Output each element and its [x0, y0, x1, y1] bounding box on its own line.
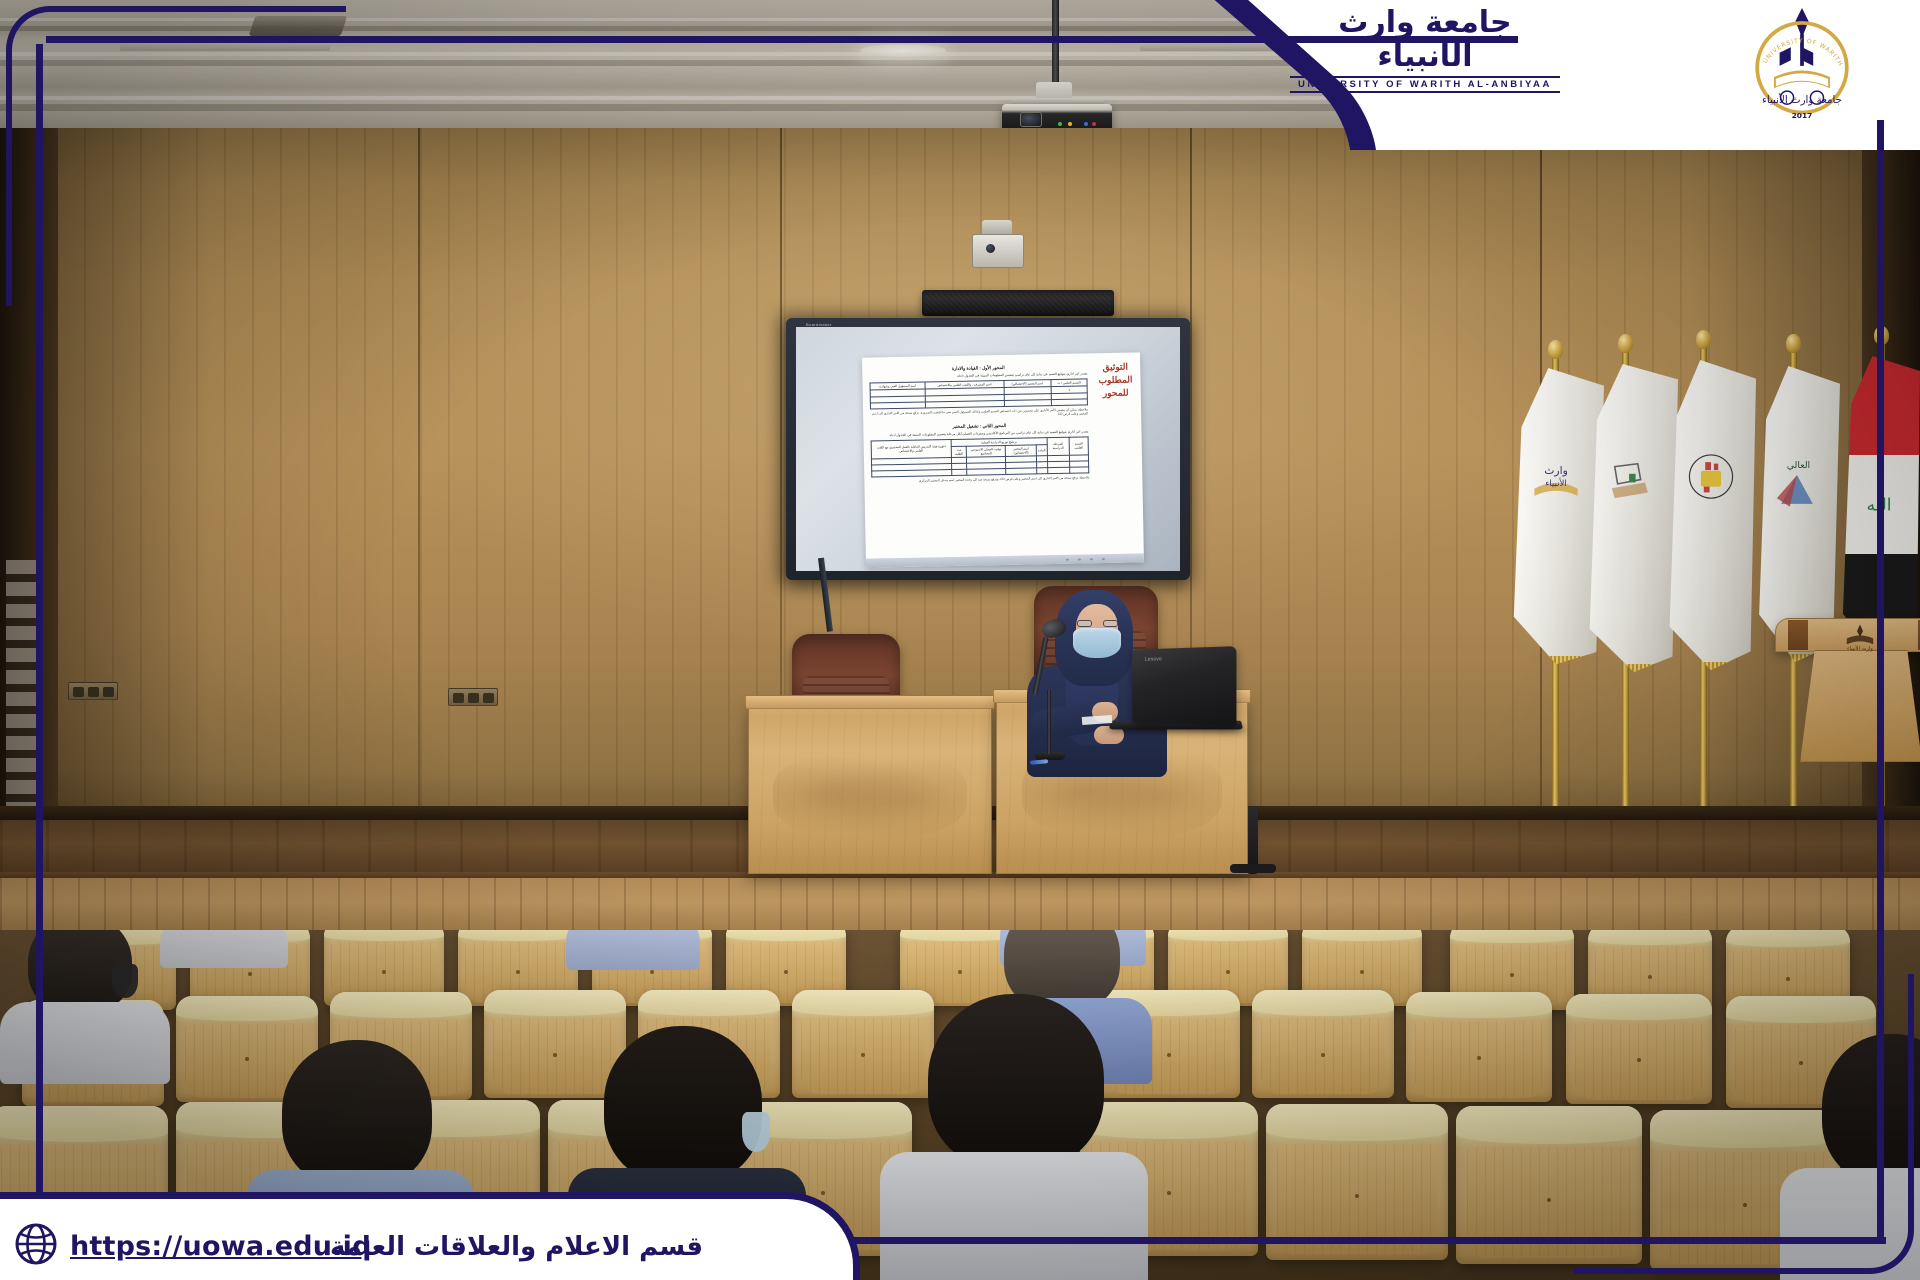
ceiling-vent-icon [249, 16, 347, 36]
laptop-screen: Lenovo [1132, 646, 1236, 726]
presenter-glasses [1077, 620, 1118, 627]
flag-finial [1786, 334, 1801, 353]
attendee-head [282, 1040, 432, 1188]
presenter-face-mask [1073, 628, 1121, 658]
recessed-light [860, 44, 946, 57]
laptop-brand-label: Lenovo [1145, 657, 1162, 663]
slide-table-2: القسم العلمي المرحلة الدراسية برنامج توز… [871, 436, 1090, 477]
flag-finial [1618, 334, 1633, 353]
screenshot-root: Boardmaker التوثيق المطلوب للمحور المحور… [0, 0, 1920, 1280]
table2-subheader-cell: اسم المختبر (الاختصاص) [1006, 445, 1037, 457]
flag-finial [1548, 340, 1563, 359]
svg-text:UNIVERSITY OF WARITH AL-ANBIYA: UNIVERSITY OF WARITH AL-ANBIYAA [1746, 6, 1845, 70]
attendee-shoulders [880, 1152, 1148, 1280]
seal-year: 2017 [1792, 111, 1813, 120]
uowa-seal: UNIVERSITY OF WARITH AL-ANBIYAA جامعة وا… [1746, 6, 1858, 122]
projector-pole [1052, 0, 1059, 88]
attendee-shoulders [0, 1002, 170, 1084]
stage-riser [0, 878, 1920, 938]
audience-seat [1252, 990, 1394, 1098]
wall-socket [448, 688, 498, 706]
audience-seat [1566, 994, 1712, 1104]
projector-lens [1020, 112, 1042, 127]
quality-flag-emblem [1675, 442, 1747, 514]
svg-text:العالي: العالي [1787, 460, 1810, 471]
attendee-shoulders [160, 930, 288, 968]
microphone-stem [1047, 690, 1051, 754]
podium-body [1800, 650, 1920, 762]
logo-latin-text: UNIVERSITY OF WARITH AL-ANBIYAA [1290, 76, 1560, 93]
cable-coil [1230, 864, 1276, 873]
audience-seat [1406, 992, 1552, 1102]
attendee-shoulders [1780, 1168, 1920, 1280]
audience-seat [484, 990, 626, 1098]
university-flag-emblem: وارث الأنبياء [1520, 444, 1592, 516]
whiteboard-screen: التوثيق المطلوب للمحور المحور الأول : ال… [796, 327, 1180, 571]
attendee-mask-black [112, 964, 138, 998]
department-label: قسم الاعلام والعلاقات العامة [330, 1232, 703, 1262]
seal-arabic-label: جامعة وارث الأنبياء [1762, 93, 1842, 106]
podium-crest-icon: وارث الأنبياء [1838, 622, 1882, 652]
event-photograph: Boardmaker التوثيق المطلوب للمحور المحور… [0, 0, 1920, 1280]
table2-subheader-cell: عدد الطلبة [951, 446, 967, 457]
wall-socket [68, 682, 118, 700]
slide-taskbar [866, 553, 1144, 567]
svg-text:الأنبياء: الأنبياء [1545, 477, 1567, 489]
slide-note-1: ملاحظة: يمكن أن يتضمن الأمر الأداري على … [870, 407, 1088, 420]
frame-line-left [36, 44, 43, 1194]
svg-text:وارث الأنبياء: وارث الأنبياء [1847, 645, 1873, 652]
slide-title: التوثيق المطلوب للمحور [1094, 360, 1137, 400]
attendee-mask [742, 1112, 770, 1152]
table2-header-cell: اجهزة هيئة التدريس الفاعلة بالعمل المختب… [871, 439, 951, 459]
empty-desk [748, 702, 992, 874]
higher-education-flag-emblem: العالي [1761, 442, 1833, 514]
attendee-head [604, 1026, 762, 1184]
seal-arc-label: UNIVERSITY OF WARITH AL-ANBIYAA [1746, 6, 1845, 70]
table2-subheader-cell: المادة [1036, 444, 1047, 455]
table2-header-cell: المرحلة الدراسية [1047, 437, 1070, 455]
presentation-slide: التوثيق المطلوب للمحور المحور الأول : ال… [862, 352, 1144, 567]
footer-banner: https://uowa.edu.iq قسم الاعلام والعلاقا… [0, 1192, 860, 1280]
ministry-flag-emblem [1596, 445, 1668, 517]
audience-seat [792, 990, 934, 1098]
globe-icon [14, 1222, 58, 1266]
website-url-link[interactable]: https://uowa.edu.iq [70, 1231, 372, 1262]
frame-line-right [1877, 120, 1884, 1240]
slide-table-1: القسم العلمي / ت اسم المختبر (الاختصاص) … [869, 378, 1087, 409]
svg-text:وارث: وارث [1544, 465, 1568, 478]
interactive-whiteboard: Boardmaker التوثيق المطلوب للمحور المحور… [786, 318, 1190, 580]
table2-subheader-cell: توقيت العملي الاسبوعي للمجاميع [967, 445, 1006, 457]
flag-finial [1696, 330, 1711, 349]
table2-header-cell: القسم العلمي [1069, 437, 1088, 455]
attendee-shoulders [566, 930, 700, 970]
projector-head-unit [966, 218, 1028, 276]
attendee-head [928, 994, 1104, 1170]
frame-line-top [46, 36, 1518, 43]
